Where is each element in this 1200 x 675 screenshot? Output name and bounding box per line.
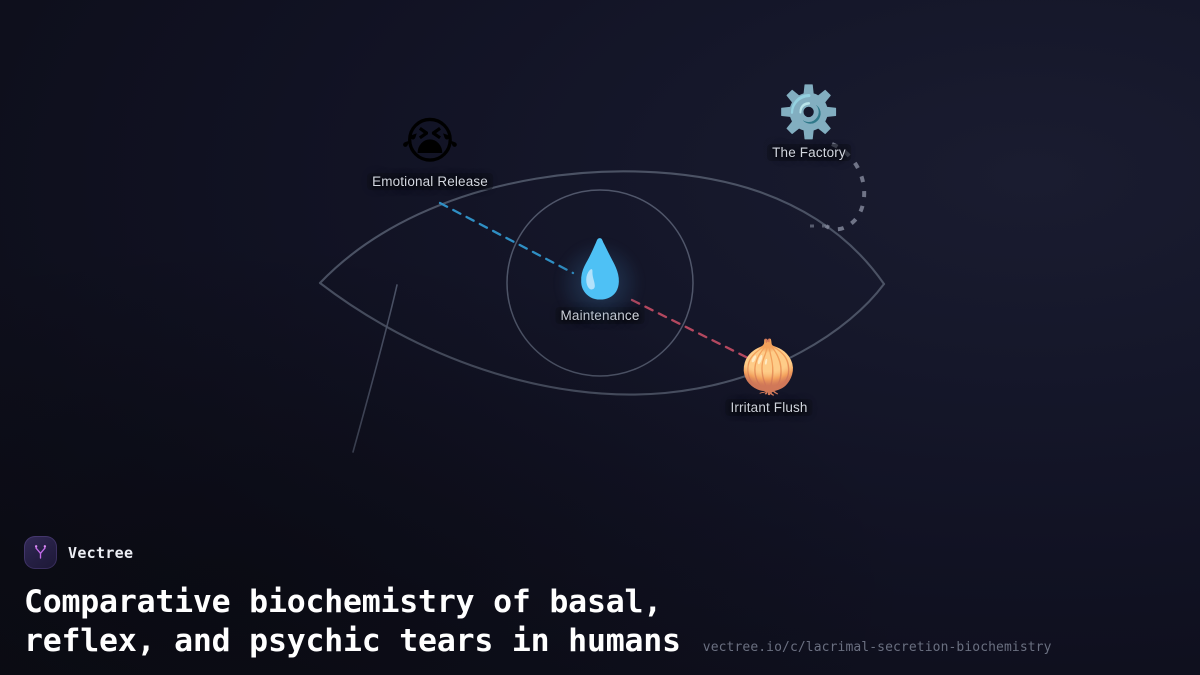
droplet-icon: 💧: [565, 242, 635, 298]
node-label-irritant-flush: Irritant Flush: [725, 399, 812, 416]
node-label-emotional-release: Emotional Release: [367, 173, 493, 190]
node-maintenance[interactable]: 💧 Maintenance: [556, 242, 645, 324]
vectree-logo-icon: [24, 536, 57, 569]
node-the-factory[interactable]: ⚙️ The Factory: [767, 87, 851, 161]
title-row: Comparative biochemistry of basal, refle…: [24, 583, 1176, 661]
brand-name: Vectree: [68, 544, 133, 562]
onion-icon: 🧅: [738, 342, 800, 392]
vectree-tree-glyph: [31, 543, 50, 562]
node-label-maintenance: Maintenance: [556, 307, 645, 324]
gear-icon: ⚙️: [778, 87, 840, 137]
footer: Vectree Comparative biochemistry of basa…: [0, 536, 1200, 675]
node-label-the-factory: The Factory: [767, 144, 851, 161]
page-url[interactable]: vectree.io/c/lacrimal-secretion-biochemi…: [703, 640, 1052, 661]
node-irritant-flush[interactable]: 🧅 Irritant Flush: [725, 342, 812, 416]
brand-row[interactable]: Vectree: [24, 536, 1176, 569]
page-title: Comparative biochemistry of basal, refle…: [24, 583, 681, 661]
loudly-crying-face-icon: 😭: [401, 116, 459, 166]
screenshot-canvas: 😭 Emotional Release ⚙️ The Factory 💧 Mai…: [0, 0, 1200, 675]
edge-emotional-maintenance[interactable]: [440, 203, 573, 273]
node-emotional-release[interactable]: 😭 Emotional Release: [367, 116, 493, 190]
